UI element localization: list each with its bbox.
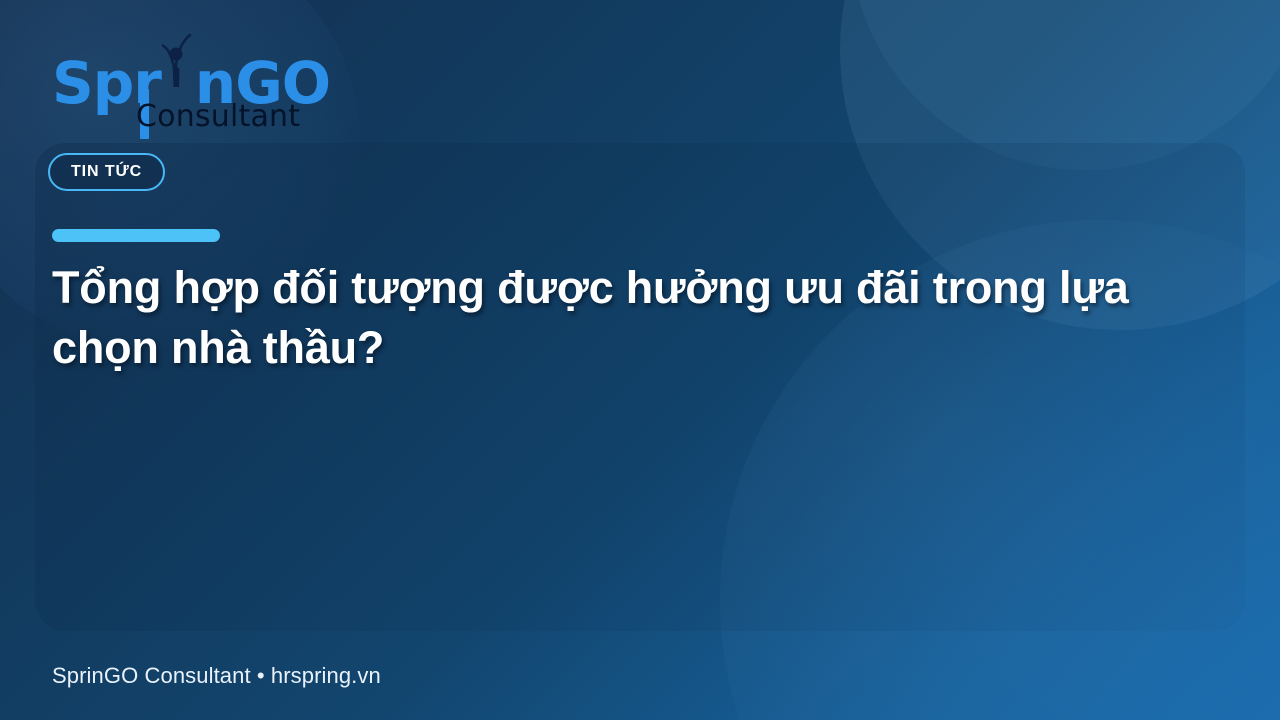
content-card-panel <box>35 143 1245 631</box>
footer-attribution: SprinGO Consultant • hrspring.vn <box>52 663 381 689</box>
logo-subtitle: Consultant <box>136 99 300 134</box>
news-banner: Spr nGO Consultant TIN TỨC Tổng hợp đối … <box>0 0 1280 720</box>
news-category-badge[interactable]: TIN TỨC <box>48 153 165 191</box>
page-title: Tổng hợp đối tượng được hưởng ưu đãi tro… <box>52 258 1212 378</box>
headline-accent-bar <box>52 229 220 242</box>
person-figure-icon <box>161 45 195 103</box>
springo-logo: Spr nGO Consultant <box>52 45 352 145</box>
